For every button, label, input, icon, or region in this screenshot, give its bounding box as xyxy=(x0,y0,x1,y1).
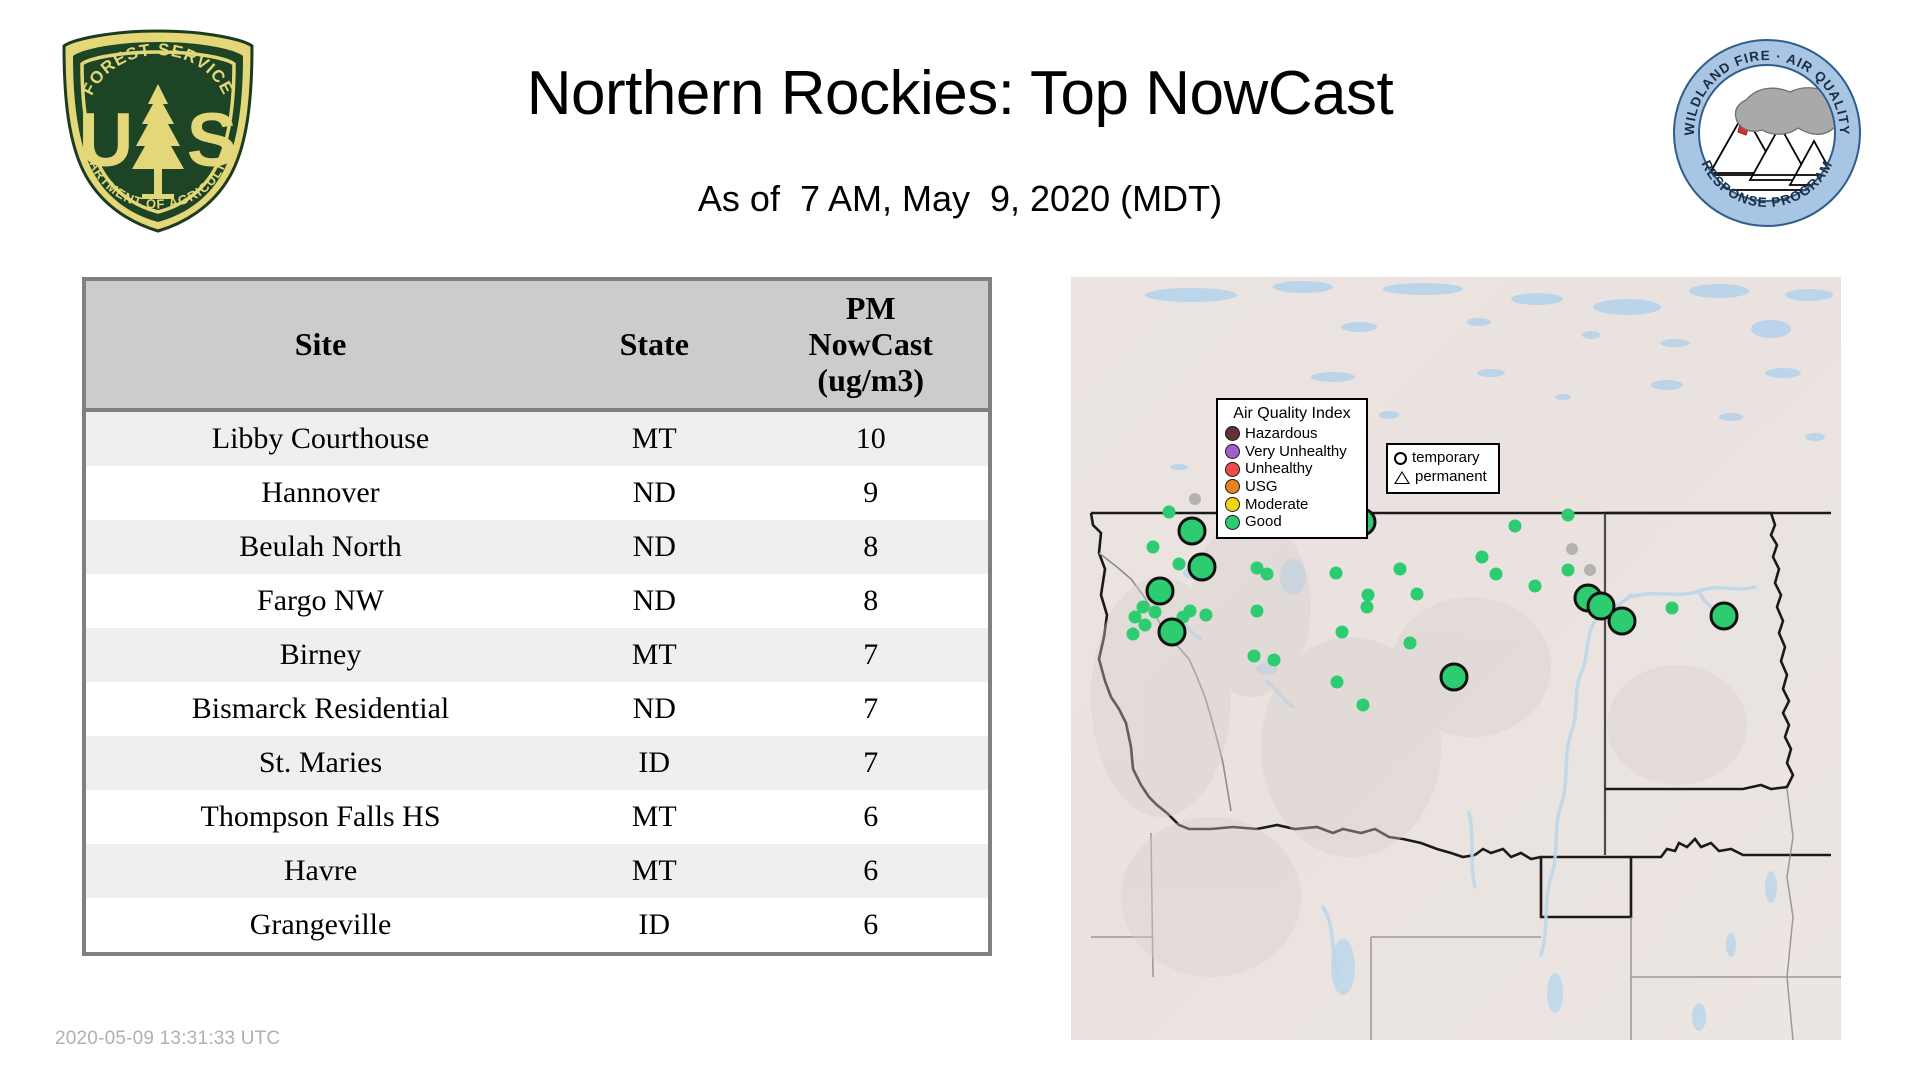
nowcast-report-page: FOREST SERVICE U S DEPARTMENT OF AGRICUL… xyxy=(0,0,1920,1080)
monitor-type-legend: temporary permanent xyxy=(1386,443,1500,494)
legend-row-temporary: temporary xyxy=(1394,449,1492,468)
aqi-legend-label: Unhealthy xyxy=(1245,460,1313,478)
pm-nowcast-cell: 7 xyxy=(753,682,988,736)
site-cell: Hannover xyxy=(86,466,555,520)
station-marker-small[interactable] xyxy=(1163,506,1176,519)
nowcast-table-container: Site State PM NowCast (ug/m3) Libby Cour… xyxy=(82,277,992,956)
table-row: Thompson Falls HSMT6 xyxy=(86,790,988,844)
state-cell: ND xyxy=(555,574,753,628)
generation-timestamp: 2020-05-09 13:31:33 UTC xyxy=(55,1028,280,1050)
station-marker-small[interactable] xyxy=(1404,637,1417,650)
station-marker-small[interactable] xyxy=(1357,699,1370,712)
aqi-legend-label: USG xyxy=(1245,478,1278,496)
nowcast-table: Site State PM NowCast (ug/m3) Libby Cour… xyxy=(86,281,988,952)
site-cell: Beulah North xyxy=(86,520,555,574)
station-marker-missing[interactable] xyxy=(1584,564,1596,576)
aqi-legend-title: Air Quality Index xyxy=(1225,405,1359,423)
aqi-legend-label: Very Unhealthy xyxy=(1245,443,1347,461)
station-marker-small[interactable] xyxy=(1261,568,1274,581)
aqi-legend-row: Very Unhealthy xyxy=(1225,443,1359,461)
aqi-legend-row: Unhealthy xyxy=(1225,460,1359,478)
pm-nowcast-cell: 6 xyxy=(753,790,988,844)
site-cell: Thompson Falls HS xyxy=(86,790,555,844)
pm-nowcast-cell: 7 xyxy=(753,628,988,682)
site-cell: Bismarck Residential xyxy=(86,682,555,736)
station-marker-small[interactable] xyxy=(1476,551,1489,564)
station-marker-missing[interactable] xyxy=(1566,543,1578,555)
station-marker-small[interactable] xyxy=(1394,563,1407,576)
table-body: Libby CourthouseMT10HannoverND9Beulah No… xyxy=(86,410,988,952)
aqi-legend-row: Moderate xyxy=(1225,496,1359,514)
aqi-color-swatch xyxy=(1225,497,1240,512)
state-cell: ND xyxy=(555,466,753,520)
state-cell: ND xyxy=(555,682,753,736)
state-cell: ND xyxy=(555,520,753,574)
station-marker-small[interactable] xyxy=(1127,628,1140,641)
page-title: Northern Rockies: Top NowCast xyxy=(300,58,1620,129)
aqi-color-swatch xyxy=(1225,479,1240,494)
aqi-color-swatch xyxy=(1225,462,1240,477)
pm-nowcast-cell: 6 xyxy=(753,898,988,952)
pm-nowcast-cell: 6 xyxy=(753,844,988,898)
station-marker-small[interactable] xyxy=(1173,558,1186,571)
state-cell: ID xyxy=(555,736,753,790)
site-cell: Havre xyxy=(86,844,555,898)
table-row: HannoverND9 xyxy=(86,466,988,520)
aqi-color-swatch xyxy=(1225,444,1240,459)
monitor-map[interactable] xyxy=(1071,277,1841,1040)
table-row: GrangevilleID6 xyxy=(86,898,988,952)
state-cell: MT xyxy=(555,410,753,466)
column-header-line-1: PM xyxy=(757,291,984,327)
station-marker-small[interactable] xyxy=(1331,676,1344,689)
table-row: Libby CourthouseMT10 xyxy=(86,410,988,466)
aqi-legend-items: HazardousVery UnhealthyUnhealthyUSGModer… xyxy=(1225,425,1359,531)
station-marker-large[interactable] xyxy=(1609,608,1635,634)
station-marker-small[interactable] xyxy=(1147,541,1160,554)
aqi-legend-row: USG xyxy=(1225,478,1359,496)
station-marker-small[interactable] xyxy=(1362,589,1375,602)
station-marker-small[interactable] xyxy=(1490,568,1503,581)
station-marker-small[interactable] xyxy=(1139,619,1152,632)
station-marker-small[interactable] xyxy=(1666,602,1679,615)
station-marker-small[interactable] xyxy=(1361,601,1374,614)
aqi-legend-label: Moderate xyxy=(1245,496,1308,514)
station-marker-large[interactable] xyxy=(1441,664,1467,690)
station-marker-large[interactable] xyxy=(1159,619,1185,645)
state-cell: MT xyxy=(555,844,753,898)
table-row: Bismarck ResidentialND7 xyxy=(86,682,988,736)
page-subtitle: As of 7 AM, May 9, 2020 (MDT) xyxy=(300,178,1620,220)
state-cell: MT xyxy=(555,790,753,844)
table-row: BirneyMT7 xyxy=(86,628,988,682)
pm-nowcast-cell: 9 xyxy=(753,466,988,520)
legend-label-temporary: temporary xyxy=(1412,449,1480,468)
station-marker-large[interactable] xyxy=(1711,603,1737,629)
station-marker-small[interactable] xyxy=(1562,564,1575,577)
station-marker-small[interactable] xyxy=(1562,509,1575,522)
table-row: HavreMT6 xyxy=(86,844,988,898)
wfaqrp-logo: WILDLAND FIRE · AIR QUALITY RESPONSE PRO… xyxy=(1672,38,1862,228)
column-header-line-2: NowCast xyxy=(757,327,984,363)
station-marker-small[interactable] xyxy=(1330,567,1343,580)
station-marker-small[interactable] xyxy=(1248,650,1261,663)
column-header-site: Site xyxy=(86,281,555,410)
aqi-legend-label: Good xyxy=(1245,513,1282,531)
station-marker-small[interactable] xyxy=(1509,520,1522,533)
station-marker-small[interactable] xyxy=(1529,580,1542,593)
station-marker-large[interactable] xyxy=(1189,554,1215,580)
table-row: Beulah NorthND8 xyxy=(86,520,988,574)
column-header-pm-nowcast: PM NowCast (ug/m3) xyxy=(753,281,988,410)
pm-nowcast-cell: 10 xyxy=(753,410,988,466)
legend-label-permanent: permanent xyxy=(1415,468,1487,487)
station-marker-small[interactable] xyxy=(1184,605,1197,618)
legend-row-permanent: permanent xyxy=(1394,468,1492,487)
pm-nowcast-cell: 7 xyxy=(753,736,988,790)
station-marker-small[interactable] xyxy=(1336,626,1349,639)
table-header: Site State PM NowCast (ug/m3) xyxy=(86,281,988,410)
station-marker-large[interactable] xyxy=(1179,518,1205,544)
table-row: St. MariesID7 xyxy=(86,736,988,790)
column-header-state: State xyxy=(555,281,753,410)
table-row: Fargo NWND8 xyxy=(86,574,988,628)
aqi-color-swatch xyxy=(1225,515,1240,530)
station-marker-small[interactable] xyxy=(1149,606,1162,619)
site-cell: Libby Courthouse xyxy=(86,410,555,466)
table-header-row: Site State PM NowCast (ug/m3) xyxy=(86,281,988,410)
aqi-color-swatch xyxy=(1225,426,1240,441)
site-cell: Grangeville xyxy=(86,898,555,952)
site-cell: St. Maries xyxy=(86,736,555,790)
column-header-line-3: (ug/m3) xyxy=(757,363,984,399)
state-cell: ID xyxy=(555,898,753,952)
station-marker-large[interactable] xyxy=(1147,578,1173,604)
aqi-legend-label: Hazardous xyxy=(1245,425,1318,443)
aqi-legend-row: Good xyxy=(1225,513,1359,531)
pm-nowcast-cell: 8 xyxy=(753,574,988,628)
station-marker-small[interactable] xyxy=(1251,605,1264,618)
station-marker-small[interactable] xyxy=(1200,609,1213,622)
station-marker-missing[interactable] xyxy=(1189,493,1201,505)
site-cell: Birney xyxy=(86,628,555,682)
permanent-monitor-icon xyxy=(1394,471,1410,484)
pm-nowcast-cell: 8 xyxy=(753,520,988,574)
station-marker-small[interactable] xyxy=(1411,588,1424,601)
temporary-monitor-icon xyxy=(1394,452,1407,465)
aqi-legend-row: Hazardous xyxy=(1225,425,1359,443)
station-marker-small[interactable] xyxy=(1268,654,1281,667)
usfs-shield-logo: FOREST SERVICE U S DEPARTMENT OF AGRICUL… xyxy=(58,26,258,236)
aqi-legend: Air Quality Index HazardousVery Unhealth… xyxy=(1216,398,1368,539)
state-cell: MT xyxy=(555,628,753,682)
site-cell: Fargo NW xyxy=(86,574,555,628)
